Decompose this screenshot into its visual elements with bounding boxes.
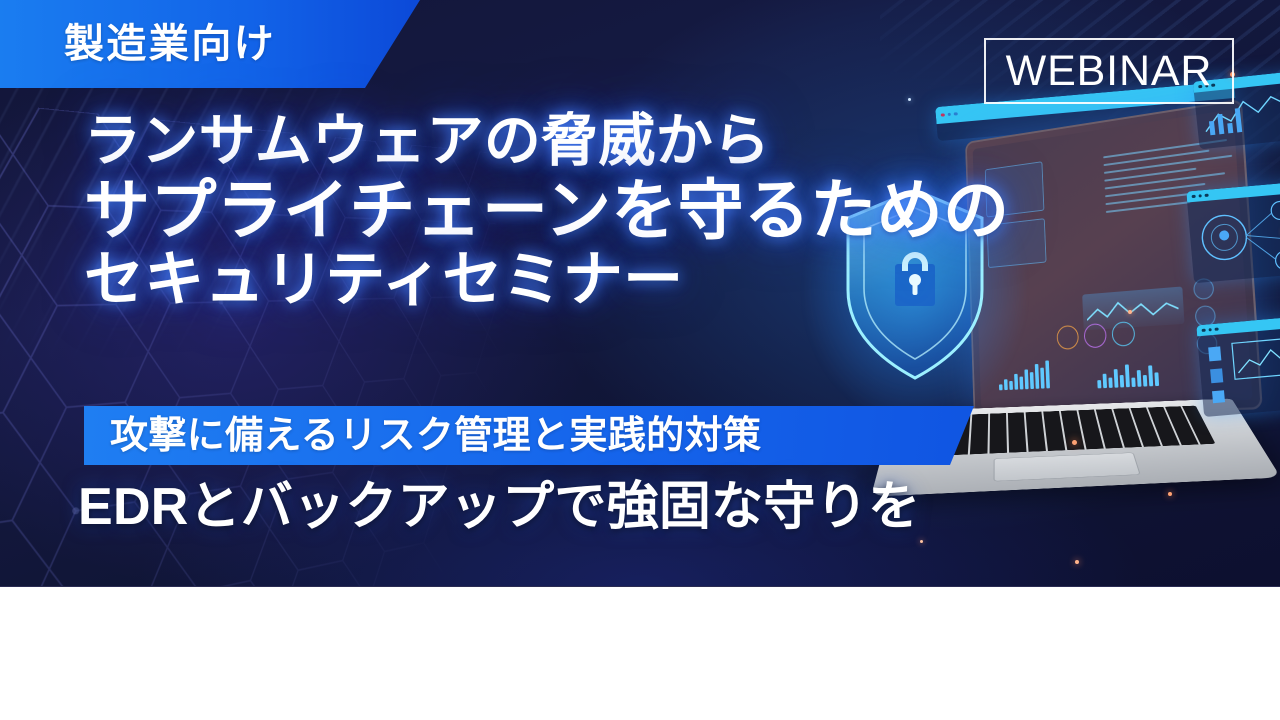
- audience-ribbon-label: 製造業向け: [64, 24, 276, 64]
- sparkle-decoration: [1128, 310, 1132, 314]
- tagline: EDRとバックアップで強固な守りを: [78, 481, 920, 533]
- footer: 2025 3/18 火 13:00 – 14:00 マジ セミ: [0, 586, 1280, 720]
- sparkle-decoration: [1168, 492, 1172, 496]
- sparkle-decoration: [908, 98, 911, 101]
- webinar-badge: WEBINAR: [984, 38, 1234, 104]
- sparkle-decoration: [1072, 440, 1077, 445]
- headline-line-1: ランサムウェアの脅威から: [84, 112, 1084, 171]
- subtitle-bar-label: 攻撃に備えるリスク管理と実践的対策: [110, 417, 761, 455]
- laptop-trackpad: [993, 452, 1140, 481]
- sparkle-decoration: [920, 540, 923, 543]
- subtitle-bar: 攻撃に備えるリスク管理と実践的対策: [84, 406, 974, 465]
- hero-background: 製造業向け WEBINAR ランサムウェアの脅威から サプライチェーンを守るため…: [0, 0, 1280, 586]
- webinar-banner: 製造業向け WEBINAR ランサムウェアの脅威から サプライチェーンを守るため…: [0, 0, 1280, 720]
- sparkle-decoration: [1075, 560, 1079, 564]
- webinar-badge-label: WEBINAR: [1006, 50, 1213, 93]
- floating-window-right-middle: [1186, 181, 1280, 283]
- headline-line-3: セキュリティセミナー: [84, 249, 1084, 311]
- floating-window-right-bottom: [1196, 315, 1280, 417]
- audience-ribbon: 製造業向け: [0, 0, 420, 88]
- headline-group: ランサムウェアの脅威から サプライチェーンを守るための セキュリティセミナー: [84, 112, 1084, 310]
- headline-line-2: サプライチェーンを守るための: [84, 177, 1084, 245]
